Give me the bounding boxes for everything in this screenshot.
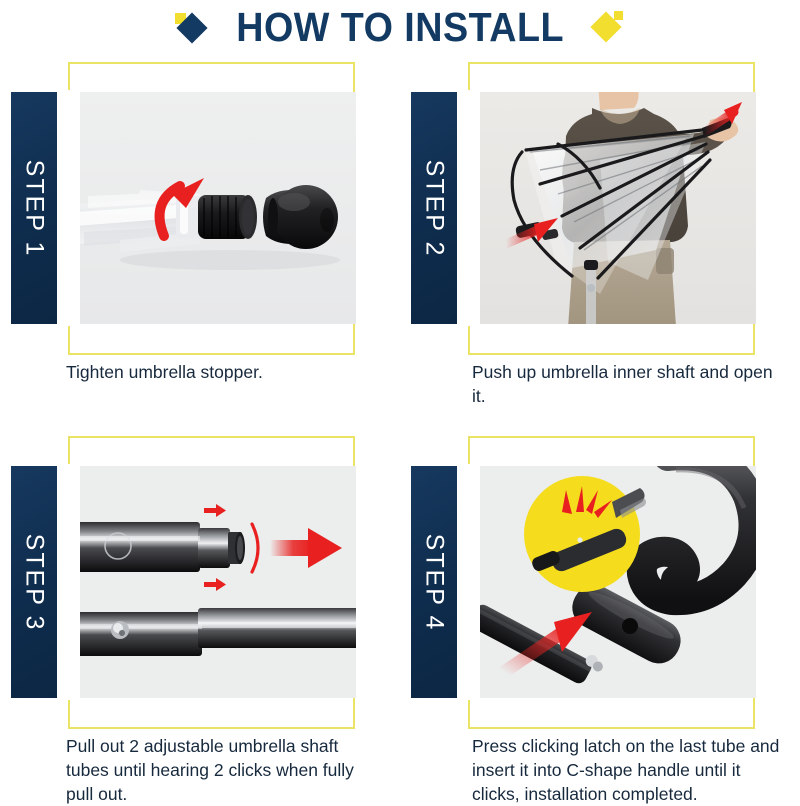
- frame-notch: [460, 90, 482, 326]
- frame-notch: [460, 464, 482, 700]
- diamond-icon: [174, 10, 208, 44]
- step-tab-label: STEP 4: [420, 533, 449, 631]
- step-tab-1: STEP 1: [11, 92, 57, 324]
- step-tab-3: STEP 3: [11, 466, 57, 698]
- step-panel-3: STEP 3 Pull out 2 adjustable umbrella sh…: [0, 426, 400, 800]
- frame-notch: [60, 464, 82, 700]
- frame-notch: [60, 90, 82, 326]
- step-tab-4: STEP 4: [411, 466, 457, 698]
- person-opening-umbrella-illustration: [480, 92, 756, 324]
- step-panel-4: STEP 4 Press clicking latch on the last …: [400, 426, 800, 800]
- step-caption-1: Tighten umbrella stopper.: [66, 360, 386, 384]
- page-title: HOW TO INSTALL: [236, 7, 564, 48]
- step-tab-label: STEP 3: [20, 533, 49, 631]
- page-header: HOW TO INSTALL: [0, 0, 800, 52]
- step-caption-4: Press clicking latch on the last tube an…: [472, 734, 790, 806]
- step-panel-1: STEP 1 Tighten umbrella stopper.: [0, 52, 400, 426]
- step-caption-3: Pull out 2 adjustable umbrella shaft tub…: [66, 734, 386, 806]
- step-photo-2: [480, 92, 756, 324]
- step-tab-label: STEP 1: [20, 159, 49, 257]
- step-photo-4: [480, 466, 756, 698]
- step-tab-label: STEP 2: [420, 159, 449, 257]
- shaft-tubes-illustration: [80, 466, 356, 698]
- step-caption-2: Push up umbrella inner shaft and open it…: [472, 360, 790, 408]
- step-tab-2: STEP 2: [411, 92, 457, 324]
- umbrella-stopper-illustration: [80, 92, 356, 324]
- step-photo-1: [80, 92, 356, 324]
- steps-grid: STEP 1 Tighten umbrella stopper.: [0, 52, 800, 800]
- diamond-icon: [592, 10, 626, 44]
- c-handle-latch-illustration: [480, 466, 756, 698]
- step-photo-3: [80, 466, 356, 698]
- step-panel-2: STEP 2 Push up umbrella inner shaft and …: [400, 52, 800, 426]
